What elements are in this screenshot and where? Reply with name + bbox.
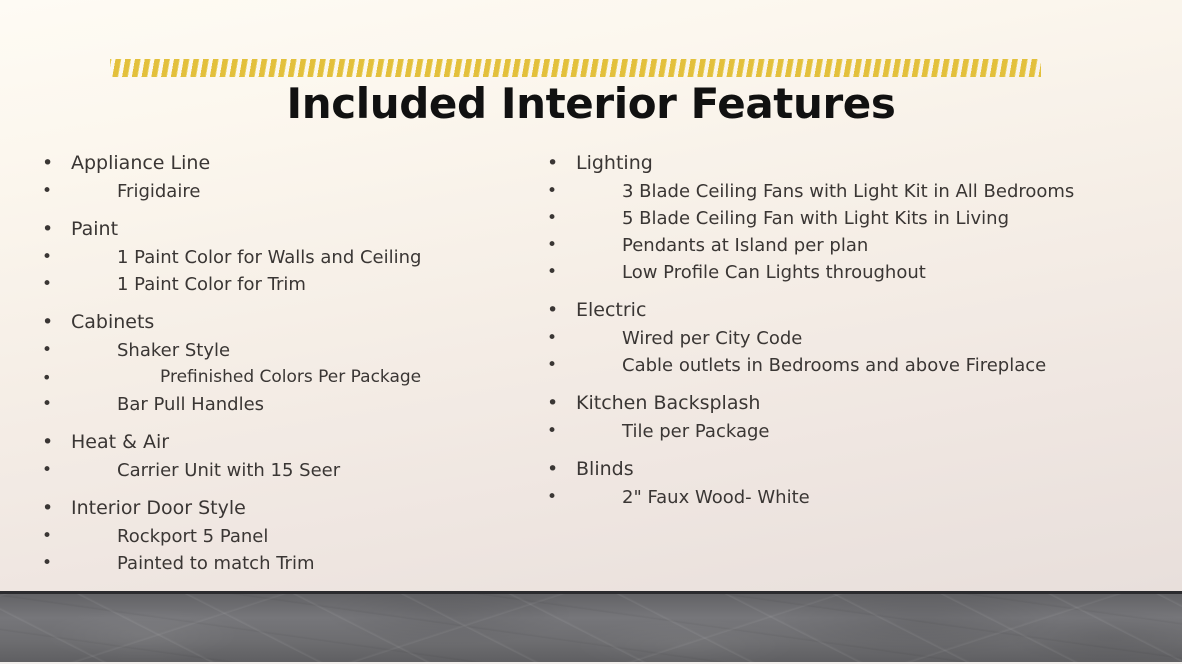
bullet-dot-icon: •: [42, 493, 53, 523]
bullet-item-label: Cabinets: [71, 307, 154, 337]
bullet-dot-icon: •: [547, 295, 558, 325]
right-column: •Lighting•3 Blade Ceiling Fans with Ligh…: [547, 148, 1107, 511]
bullet-item-level-2: •Frigidaire: [42, 178, 542, 205]
bullet-item-label: Blinds: [576, 454, 634, 484]
bullet-dot-icon: •: [547, 352, 557, 379]
bullet-dot-icon: •: [42, 427, 53, 457]
left-column: •Appliance Line•Frigidaire•Paint•1 Paint…: [42, 148, 542, 577]
presentation-slide: Included Interior Features •Appliance Li…: [0, 0, 1182, 664]
bullet-item-label: Rockport 5 Panel: [117, 523, 268, 550]
bullet-dot-icon: •: [42, 271, 52, 298]
bullet-dot-icon: •: [42, 178, 52, 205]
bullet-item-level-2: •1 Paint Color for Trim: [42, 271, 542, 298]
bullet-item-level-1: •Electric: [547, 295, 1107, 325]
bullet-dot-icon: •: [547, 388, 558, 418]
bullet-dot-icon: •: [42, 457, 52, 484]
bullet-item-level-1: •Cabinets: [42, 307, 542, 337]
bullet-dot-icon: •: [547, 148, 558, 178]
bullet-item-level-2: •2" Faux Wood- White: [547, 484, 1107, 511]
bullet-dot-icon: •: [547, 418, 557, 445]
page-title: Included Interior Features: [0, 82, 1182, 126]
bullet-item-label: 1 Paint Color for Trim: [117, 271, 306, 298]
bullet-item-level-1: •Lighting: [547, 148, 1107, 178]
left-bullet-list: •Appliance Line•Frigidaire•Paint•1 Paint…: [42, 148, 542, 577]
bullet-item-level-1: •Appliance Line: [42, 148, 542, 178]
bullet-dot-icon: •: [547, 205, 557, 232]
bullet-item-label: Heat & Air: [71, 427, 169, 457]
bullet-item-label: 2" Faux Wood- White: [622, 484, 810, 511]
bullet-dot-icon: •: [42, 523, 52, 550]
bullet-item-level-2: •Shaker Style: [42, 337, 542, 364]
bullet-dot-icon: •: [547, 232, 557, 259]
bullet-dot-icon: •: [547, 259, 557, 286]
bullet-item-level-2: •Low Profile Can Lights throughout: [547, 259, 1107, 286]
bullet-item-level-2: •Rockport 5 Panel: [42, 523, 542, 550]
bullet-item-level-2: •Pendants at Island per plan: [547, 232, 1107, 259]
bullet-item-label: Shaker Style: [117, 337, 230, 364]
stone-photo-strip: [0, 591, 1182, 664]
bullet-item-label: 1 Paint Color for Walls and Ceiling: [117, 244, 421, 271]
bullet-item-label: Cable outlets in Bedrooms and above Fire…: [622, 352, 1046, 379]
bullet-dot-icon: •: [42, 214, 53, 244]
bullet-item-label: Interior Door Style: [71, 493, 246, 523]
bullet-item-label: Low Profile Can Lights throughout: [622, 259, 926, 286]
bullet-item-label: Pendants at Island per plan: [622, 232, 868, 259]
bullet-item-level-3: •Prefinished Colors Per Package: [42, 364, 542, 391]
bullet-item-label: Tile per Package: [622, 418, 769, 445]
bullet-item-level-1: •Blinds: [547, 454, 1107, 484]
content-columns: •Appliance Line•Frigidaire•Paint•1 Paint…: [0, 148, 1182, 578]
bullet-item-level-2: •1 Paint Color for Walls and Ceiling: [42, 244, 542, 271]
bullet-item-level-2: •5 Blade Ceiling Fan with Light Kits in …: [547, 205, 1107, 232]
bullet-item-label: 5 Blade Ceiling Fan with Light Kits in L…: [622, 205, 1009, 232]
bullet-item-level-1: •Interior Door Style: [42, 493, 542, 523]
bullet-item-label: Lighting: [576, 148, 653, 178]
bullet-dot-icon: •: [547, 454, 558, 484]
bullet-item-level-2: •Bar Pull Handles: [42, 391, 542, 418]
bullet-item-label: Electric: [576, 295, 646, 325]
bullet-dot-icon: •: [42, 391, 52, 418]
bullet-item-label: 3 Blade Ceiling Fans with Light Kit in A…: [622, 178, 1074, 205]
bullet-item-level-1: •Kitchen Backsplash: [547, 388, 1107, 418]
gold-stripe-decoration: [110, 59, 1041, 77]
bullet-item-level-2: •3 Blade Ceiling Fans with Light Kit in …: [547, 178, 1107, 205]
gold-stripe-pattern: [110, 59, 1041, 77]
bullet-item-level-2: •Cable outlets in Bedrooms and above Fir…: [547, 352, 1107, 379]
bullet-item-level-2: •Carrier Unit with 15 Seer: [42, 457, 542, 484]
bullet-item-level-2: •Painted to match Trim: [42, 550, 542, 577]
bullet-item-label: Painted to match Trim: [117, 550, 315, 577]
bullet-item-label: Prefinished Colors Per Package: [160, 364, 421, 391]
bullet-item-label: Appliance Line: [71, 148, 210, 178]
stone-texture: [0, 594, 1182, 662]
bullet-dot-icon: •: [42, 550, 52, 577]
bullet-dot-icon: •: [42, 148, 53, 178]
right-bullet-list: •Lighting•3 Blade Ceiling Fans with Ligh…: [547, 148, 1107, 511]
bullet-dot-icon: •: [547, 484, 557, 511]
bullet-item-label: Wired per City Code: [622, 325, 802, 352]
bullet-item-level-1: •Heat & Air: [42, 427, 542, 457]
bullet-item-label: Frigidaire: [117, 178, 200, 205]
bullet-item-label: Bar Pull Handles: [117, 391, 264, 418]
bullet-dot-icon: •: [547, 178, 557, 205]
bullet-dot-icon: •: [42, 337, 52, 364]
bullet-item-label: Carrier Unit with 15 Seer: [117, 457, 340, 484]
bullet-item-label: Paint: [71, 214, 118, 244]
bullet-dot-icon: •: [42, 244, 52, 271]
bullet-item-level-2: •Wired per City Code: [547, 325, 1107, 352]
bullet-dot-icon: •: [547, 325, 557, 352]
bullet-dot-icon: •: [42, 307, 53, 337]
bullet-item-level-1: •Paint: [42, 214, 542, 244]
bullet-item-level-2: •Tile per Package: [547, 418, 1107, 445]
bullet-item-label: Kitchen Backsplash: [576, 388, 760, 418]
bullet-dot-icon: •: [42, 364, 51, 391]
